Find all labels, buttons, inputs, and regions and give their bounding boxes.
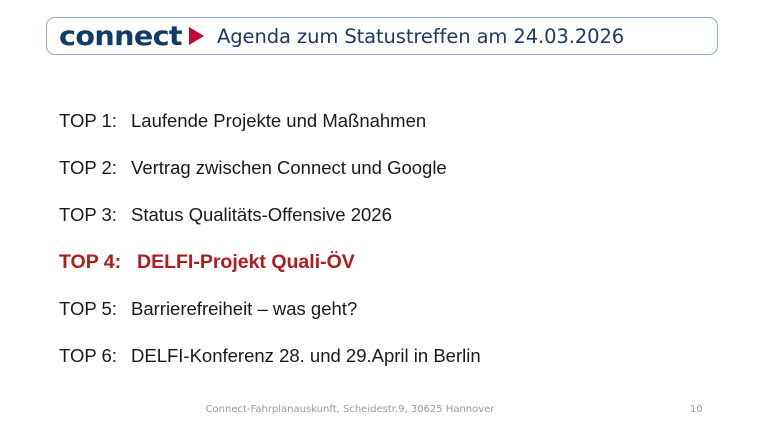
play-triangle-icon xyxy=(189,27,204,45)
agenda-item-label: TOP 1: xyxy=(59,110,131,132)
connect-logo: connect xyxy=(59,23,182,50)
page-number: 10 xyxy=(690,404,730,415)
agenda-item-text: Barrierefreiheit – was geht? xyxy=(131,298,357,320)
agenda-item-label: TOP 6: xyxy=(59,345,131,367)
slide-header-frame: connect Agenda zum Statustreffen am 24.0… xyxy=(46,17,718,55)
agenda-item-text: Status Qualitäts-Offensive 2026 xyxy=(131,204,392,226)
slide-title: Agenda zum Statustreffen am 24.03.2026 xyxy=(217,25,624,48)
agenda-item-text: DELFI-Projekt Quali-ÖV xyxy=(137,251,355,274)
agenda-item-3: TOP 3: Status Qualitäts-Offensive 2026 xyxy=(59,204,719,251)
agenda-item-text: Vertrag zwischen Connect und Google xyxy=(131,157,447,179)
agenda-item-1: TOP 1: Laufende Projekte und Maßnahmen xyxy=(59,110,719,157)
agenda-item-5: TOP 5: Barrierefreiheit – was geht? xyxy=(59,298,719,345)
agenda-item-2: TOP 2: Vertrag zwischen Connect und Goog… xyxy=(59,157,719,204)
agenda-item-label: TOP 2: xyxy=(59,157,131,179)
agenda-item-text: DELFI-Konferenz 28. und 29.April in Berl… xyxy=(131,345,481,367)
agenda-item-text: Laufende Projekte und Maßnahmen xyxy=(131,110,426,132)
agenda-item-6: TOP 6: DELFI-Konferenz 28. und 29.April … xyxy=(59,345,719,392)
footer-address: Connect-Fahrplanauskunft, Scheidestr.9, … xyxy=(0,404,700,415)
agenda-item-4-highlighted: TOP 4: DELFI-Projekt Quali-ÖV xyxy=(59,251,719,298)
agenda-list: TOP 1: Laufende Projekte und Maßnahmen T… xyxy=(59,110,719,392)
agenda-item-label: TOP 3: xyxy=(59,204,131,226)
agenda-item-label: TOP 5: xyxy=(59,298,131,320)
agenda-item-label: TOP 4: xyxy=(59,251,137,274)
